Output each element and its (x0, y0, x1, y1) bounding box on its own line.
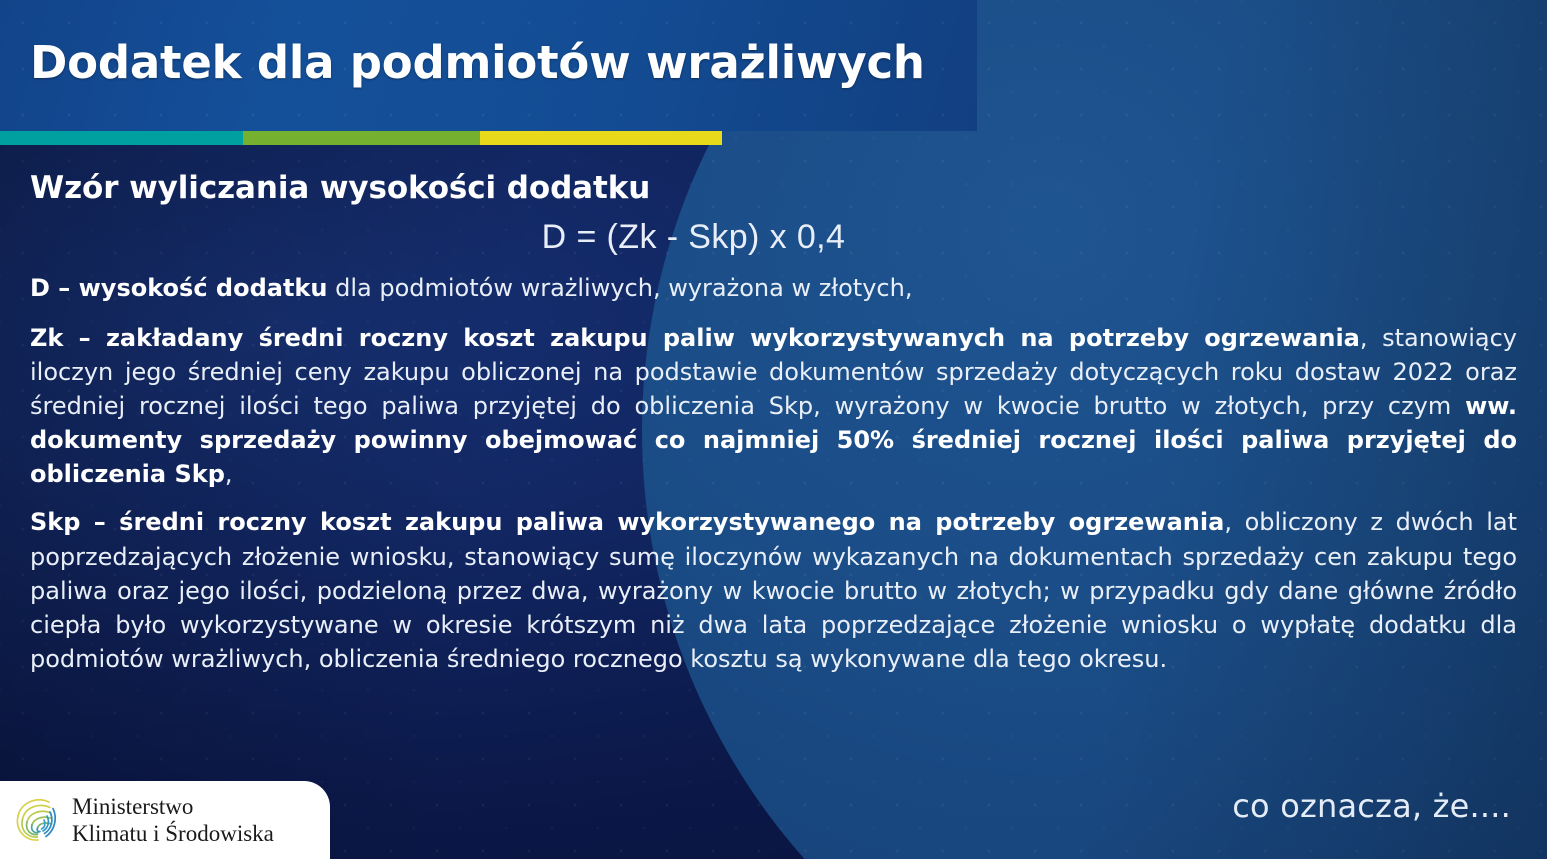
accent-segment-teal (0, 131, 243, 145)
ministry-logo-text: Ministerstwo Klimatu i Środowiska (72, 793, 274, 847)
slide-root: Dodatek dla podmiotów wrażliwych Wzór wy… (0, 0, 1547, 859)
ministry-logo-line2: Klimatu i Środowiska (72, 820, 274, 847)
accent-segment-yellow (480, 131, 722, 145)
definition-skp-lead: Skp – średni roczny koszt zakupu paliwa … (30, 508, 1224, 536)
definition-skp: Skp – średni roczny koszt zakupu paliwa … (30, 505, 1517, 675)
ministry-logo-line1: Ministerstwo (72, 793, 274, 820)
definition-d: D – wysokość dodatku dla podmiotów wrażl… (30, 271, 1517, 305)
section-heading: Wzór wyliczania wysokości dodatku (30, 170, 1517, 206)
tagline-text: co oznacza, że.... (1232, 787, 1511, 825)
definition-zk: Zk – zakładany średni roczny koszt zakup… (30, 321, 1517, 491)
formula-expression: D = (Zk - Skp) x 0,4 (30, 218, 1517, 257)
slide-content: Wzór wyliczania wysokości dodatku D = (Z… (30, 170, 1517, 690)
accent-segment-green (243, 131, 480, 145)
ministry-logo-panel: Ministerstwo Klimatu i Środowiska (0, 781, 330, 859)
definition-d-lead: D – wysokość dodatku (30, 274, 327, 302)
definition-zk-lead: Zk – zakładany średni roczny koszt zakup… (30, 324, 1360, 352)
accent-color-rule (0, 131, 722, 145)
definition-d-rest: dla podmiotów wrażliwych, wyrażona w zło… (327, 274, 912, 302)
definition-zk-tail: , (225, 460, 233, 488)
ministry-spiral-logo-icon (10, 792, 60, 848)
slide-title: Dodatek dla podmiotów wrażliwych (30, 36, 925, 89)
